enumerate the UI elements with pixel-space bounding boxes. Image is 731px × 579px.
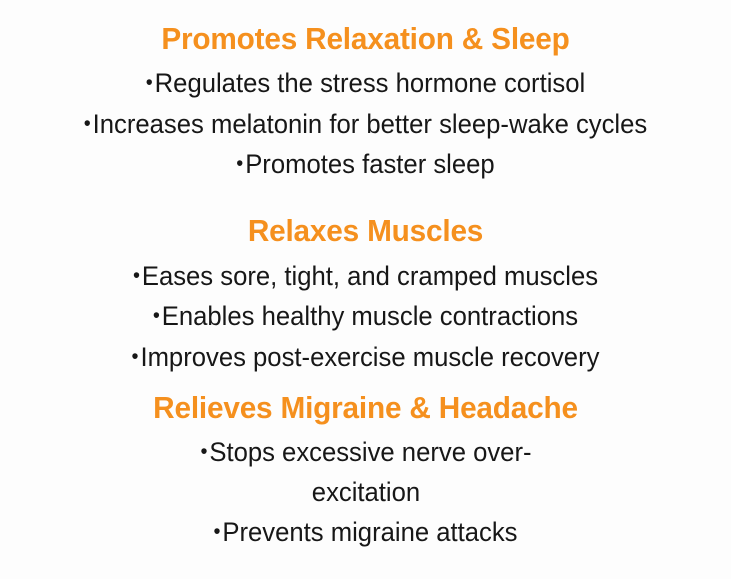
bullet-dot-icon: •: [236, 152, 245, 175]
bullet-dot-icon: •: [213, 520, 222, 543]
list-item: •Enables healthy muscle contractions: [28, 296, 703, 337]
list-item: •Eases sore, tight, and cramped muscles: [28, 256, 703, 297]
section-heading-migraine: Relieves Migraine & Headache: [24, 385, 707, 431]
benefits-slide: Promotes Relaxation & Sleep •Regulates t…: [0, 0, 731, 579]
bullet-dot-icon: •: [133, 264, 142, 287]
bullet-dot-icon: •: [132, 345, 141, 368]
bullet-dot-icon: •: [153, 304, 162, 327]
list-item-label: Improves post-exercise muscle recovery: [140, 342, 599, 372]
section-relieves-migraine-and-headache: Relieves Migraine & Headache •Stops exce…: [10, 385, 721, 552]
section-heading-muscles: Relaxes Muscles: [24, 208, 707, 254]
section-heading-relaxation: Promotes Relaxation & Sleep: [24, 16, 707, 62]
list-item: •Promotes faster sleep: [28, 144, 703, 185]
bullet-list-migraine: •Stops excessive nerve over-excitation •…: [10, 431, 721, 552]
section-promotes-relaxation-and-sleep: Promotes Relaxation & Sleep •Regulates t…: [10, 16, 721, 185]
bullet-dot-icon: •: [146, 71, 155, 94]
bullet-list-relaxation: •Regulates the stress hormone cortisol •…: [10, 62, 721, 185]
bullet-dot-icon: •: [84, 112, 93, 135]
list-item-label: Regulates the stress hormone cortisol: [155, 68, 586, 98]
bullet-dot-icon: •: [200, 440, 209, 463]
list-item-label: Increases melatonin for better sleep-wak…: [93, 109, 648, 139]
list-item-label: Promotes faster sleep: [245, 149, 494, 179]
list-item: •Regulates the stress hormone cortisol: [28, 63, 703, 104]
list-item-label: Eases sore, tight, and cramped muscles: [142, 261, 598, 291]
bullet-list-muscles: •Eases sore, tight, and cramped muscles …: [10, 254, 721, 378]
section-relaxes-muscles: Relaxes Muscles •Eases sore, tight, and …: [10, 208, 721, 378]
list-item: •Improves post-exercise muscle recovery: [28, 337, 703, 378]
list-item-label: Prevents migraine attacks: [222, 517, 517, 547]
list-item-label: Stops excessive nerve over-excitation: [209, 437, 531, 507]
list-item: •Prevents migraine attacks: [28, 512, 703, 552]
list-item: •Stops excessive nerve over-excitation: [176, 432, 556, 512]
list-item-label: Enables healthy muscle contractions: [162, 301, 578, 331]
list-item: •Increases melatonin for better sleep-wa…: [28, 104, 703, 145]
